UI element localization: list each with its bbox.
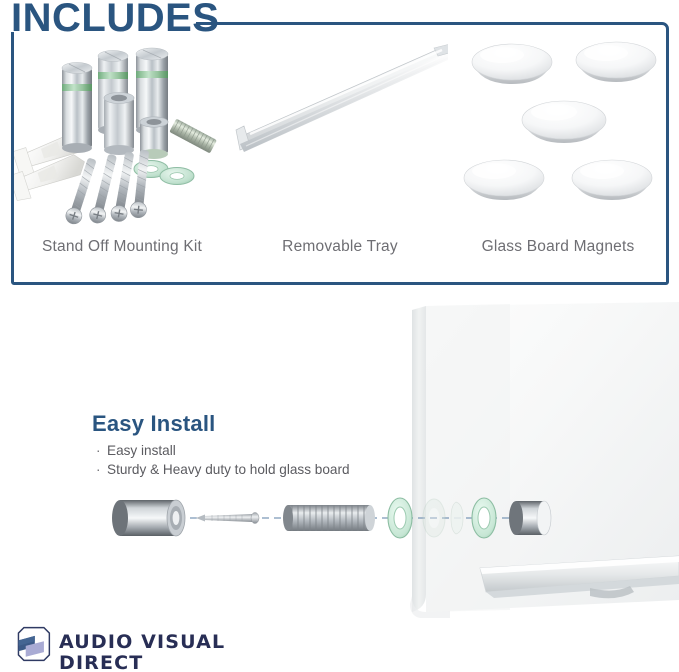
glass-board-illustration — [390, 300, 679, 620]
magnet-2 — [576, 42, 656, 82]
magnet-1 — [472, 44, 552, 84]
standoff-mounting-kit-image — [14, 26, 230, 266]
threaded-bolt — [169, 119, 217, 154]
washer-ghost-part — [423, 499, 445, 537]
bullet-dot-icon: · — [96, 460, 107, 479]
list-item-text: Easy install — [107, 443, 176, 458]
exploded-diagram-illustration — [112, 482, 552, 552]
list-item: ·Easy install — [96, 441, 350, 460]
glass-panel-part — [451, 502, 463, 534]
barrel-sleeve-part — [112, 500, 185, 536]
includes-item-label: Stand Off Mounting Kit — [14, 238, 230, 256]
list-item: ·Sturdy & Heavy duty to hold glass board — [96, 460, 350, 479]
includes-item-removable-tray: Removable Tray — [232, 26, 448, 266]
cap-head-part — [509, 501, 551, 535]
list-item-text: Sturdy & Heavy duty to hold glass board — [107, 462, 350, 477]
glass-board-magnets-image — [450, 26, 666, 266]
easy-install-heading: Easy Install — [92, 411, 215, 437]
standoff-kit-illustration — [14, 26, 230, 236]
standoff-barrel-4 — [104, 93, 134, 156]
includes-item-standoff-kit: Stand Off Mounting Kit — [14, 26, 230, 266]
includes-item-label: Glass Board Magnets — [450, 238, 666, 256]
threaded-bolt-part — [283, 505, 375, 531]
removable-tray-illustration — [232, 26, 448, 236]
bullet-dot-icon: · — [96, 441, 107, 460]
includes-item-glass-board-magnets: Glass Board Magnets — [450, 26, 666, 266]
standoff-barrel-1 — [62, 63, 92, 154]
magnet-4 — [464, 160, 544, 200]
magnet-5 — [572, 160, 652, 200]
standoff-exploded-assembly-diagram — [112, 482, 552, 552]
washer-front-part — [388, 498, 412, 538]
page-title: INCLUDES — [11, 0, 219, 41]
washer-back-part — [472, 498, 496, 538]
removable-tray-image — [232, 26, 448, 266]
brand-logo: AUDIO VISUAL DIRECT — [13, 622, 273, 666]
audio-visual-direct-logo-mark — [13, 624, 53, 664]
magnet-3 — [522, 101, 606, 143]
glass-whiteboard-panel — [390, 300, 679, 620]
includes-item-label: Removable Tray — [232, 238, 448, 256]
product-infographic: INCLUDES — [0, 0, 679, 672]
brand-name: AUDIO VISUAL DIRECT — [59, 632, 279, 672]
easy-install-bullet-list: ·Easy install ·Sturdy & Heavy duty to ho… — [96, 441, 350, 479]
screw-part — [196, 513, 259, 524]
magnets-illustration — [450, 26, 666, 236]
